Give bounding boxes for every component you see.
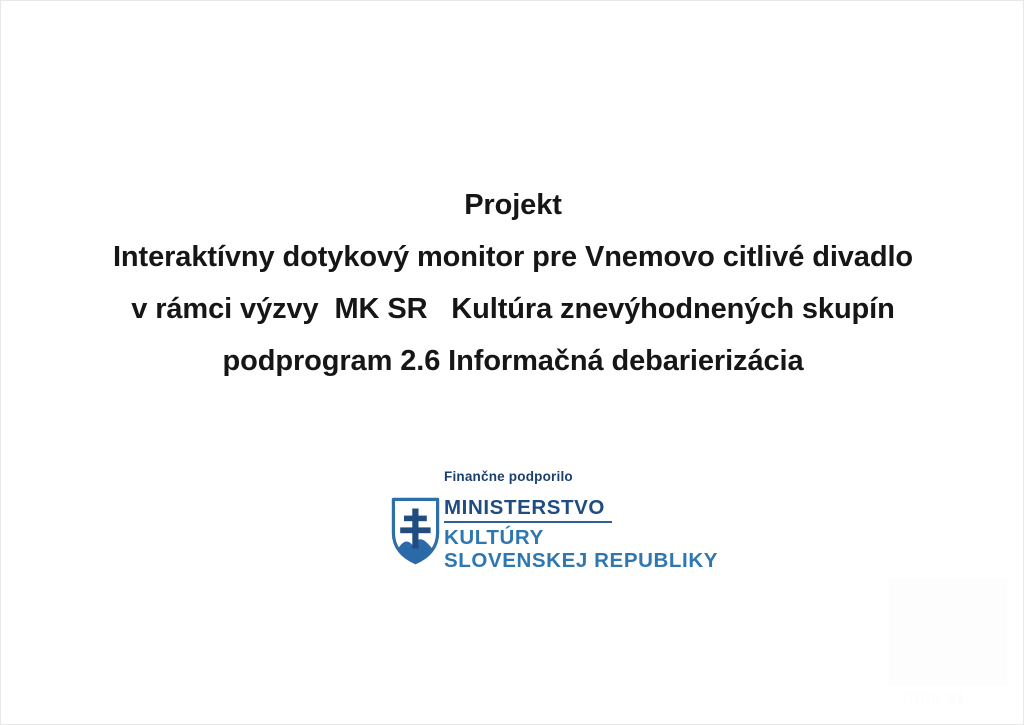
title-line-3: v rámci výzvy MK SR Kultúra znevýhodnený… [1,283,1024,335]
slide-title-block: Projekt Interaktívny dotykový monitor pr… [1,179,1024,387]
wordmark-line-kultury: KULTÚRY [444,526,689,549]
wordmark-line-ministerstvo: MINISTERSTVO [444,496,689,519]
title-line-2: Interaktívny dotykový monitor pre Vnemov… [1,231,1024,283]
watermark-caption: 9f09 9f. [903,689,968,711]
logo-strapline: Finančne podporilo [444,469,573,484]
ministry-of-culture-logo: Finančne podporilo MINISTERSTVO KULTÚRY … [389,469,689,574]
wordmark-divider-rule [444,521,612,523]
wordmark-line-slovenskej-republiky: SLOVENSKEJ REPUBLIKY [444,549,689,572]
title-line-4: podprogram 2.6 Informačná debarierizácia [1,335,1024,387]
slovak-coat-of-arms-icon [391,497,440,565]
slide-canvas: Projekt Interaktívny dotykový monitor pr… [0,0,1024,725]
logo-wordmark: MINISTERSTVO KULTÚRY SLOVENSKEJ REPUBLIK… [444,496,689,572]
title-line-1: Projekt [1,179,1024,231]
watermark-shape-a [905,597,925,657]
background-watermark: 9f09 9f. [887,579,1013,719]
watermark-shape-c [945,583,997,613]
